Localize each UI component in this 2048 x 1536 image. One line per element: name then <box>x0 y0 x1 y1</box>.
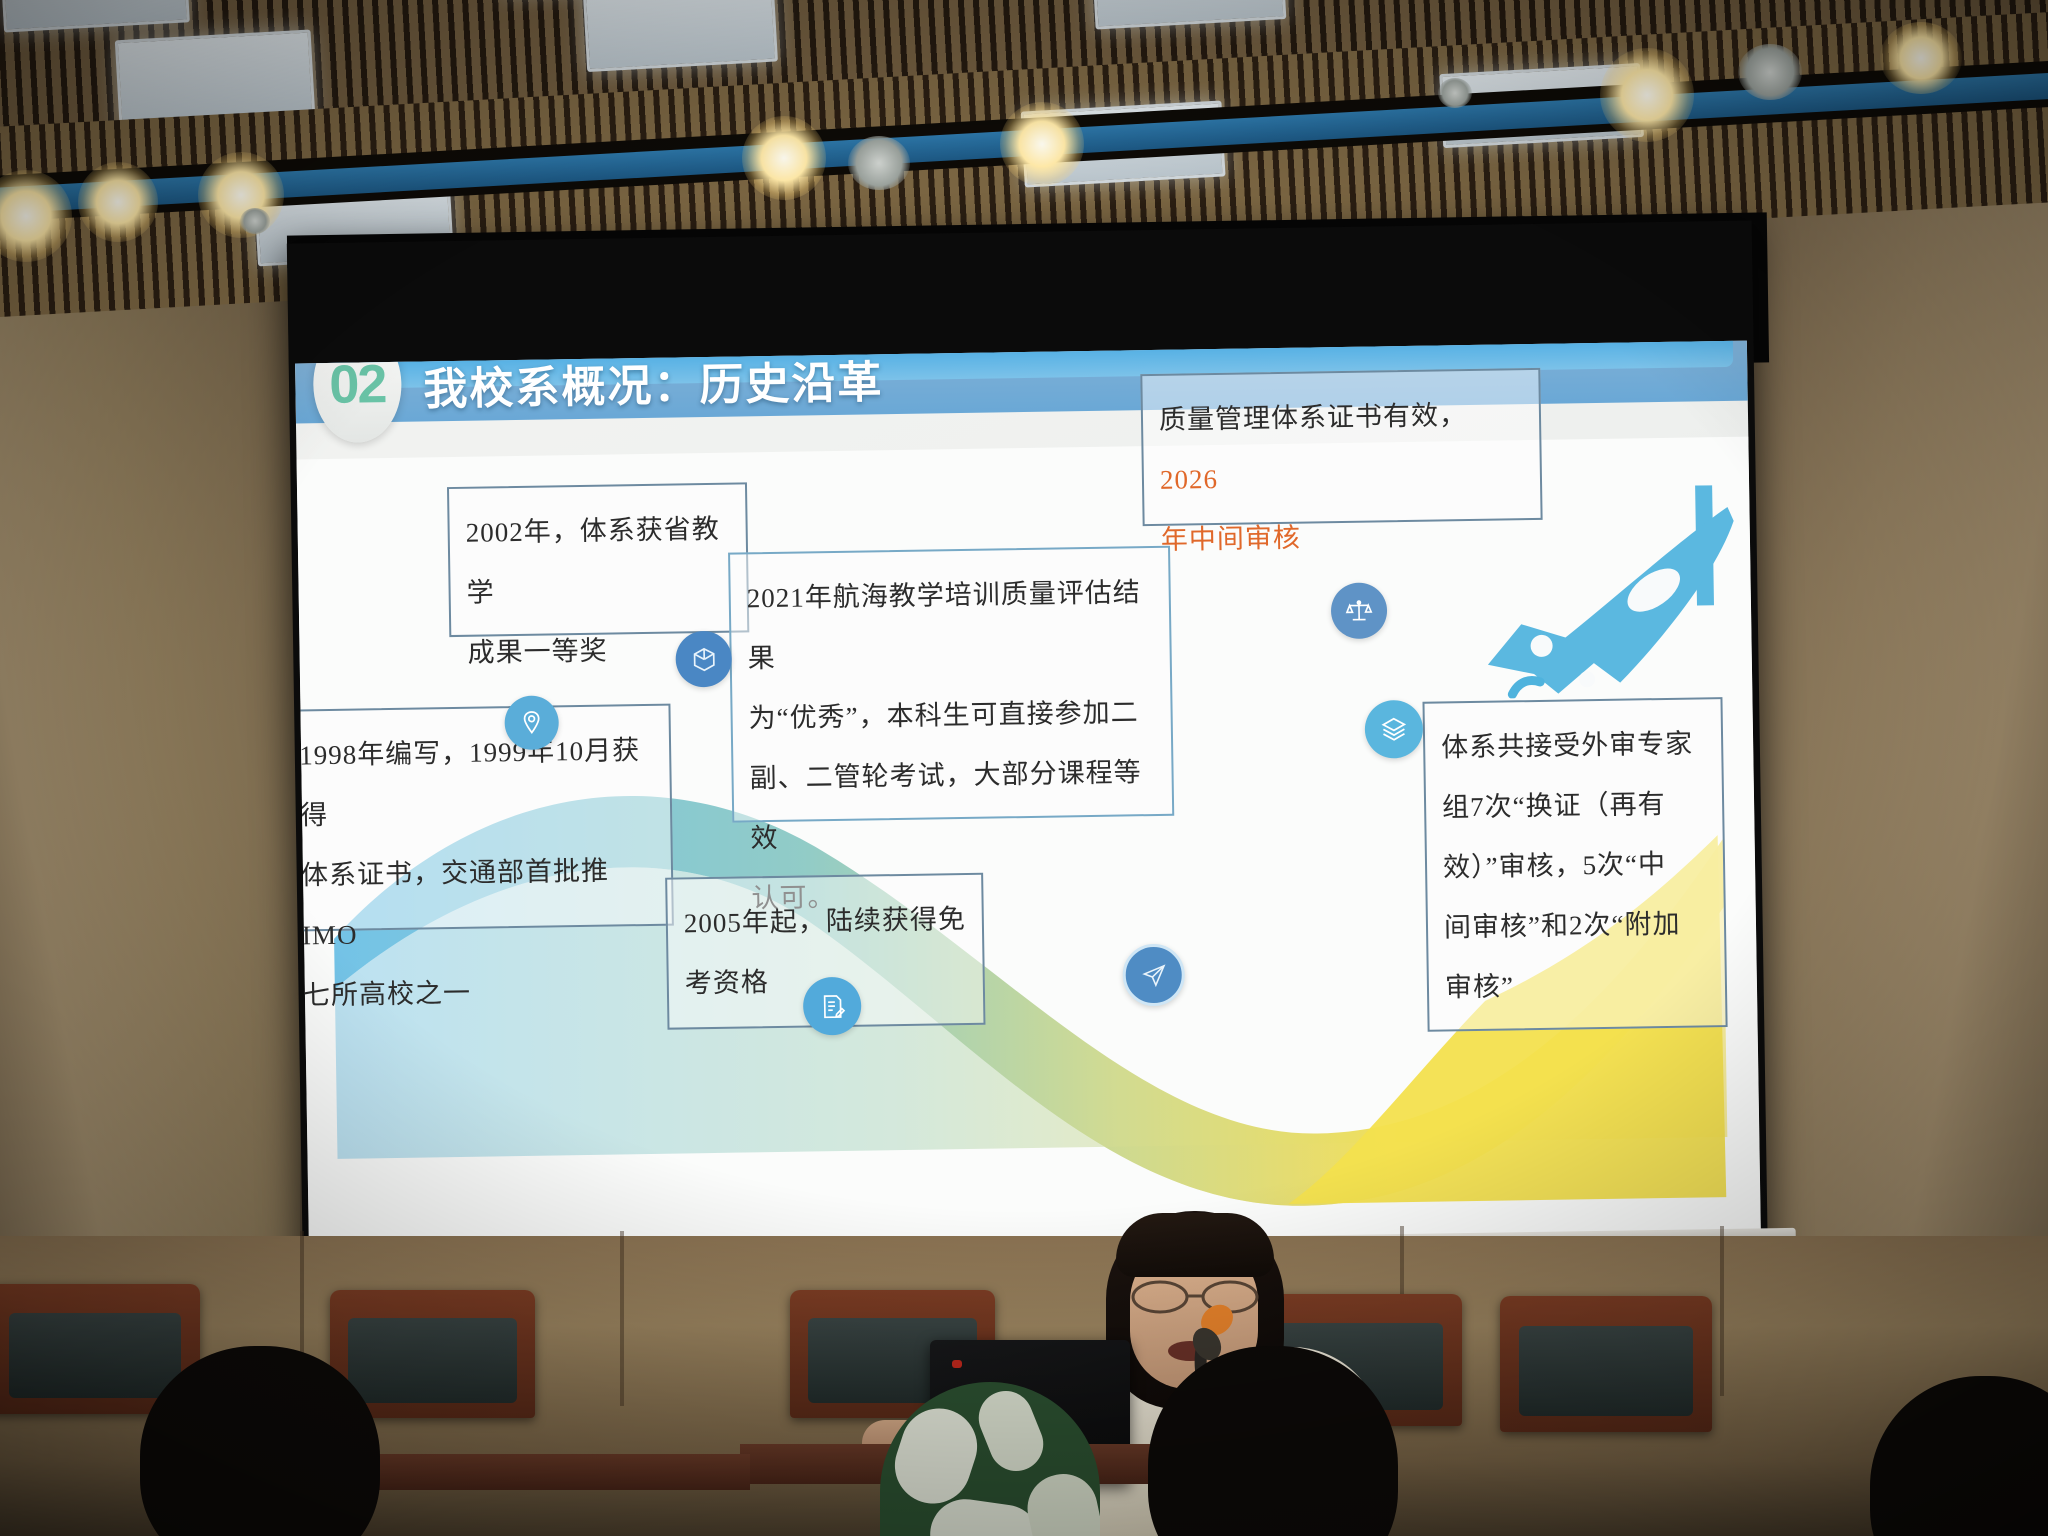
ceiling-light-9 <box>848 136 910 190</box>
box-1998-line-2: 体系证书，交通部首批推IMO <box>301 840 657 966</box>
box-2026-line-2: 年中间审核 <box>1160 504 1525 570</box>
box-1998-line-1: 1998年编写，1999年10月获得 <box>299 720 655 846</box>
box-2026-year: 2026 <box>1160 464 1218 495</box>
box-audit-line-2: 组7次“换证（再有 <box>1442 773 1707 837</box>
slide-badge-number: 02 <box>329 353 386 416</box>
ceiling-light-10 <box>1438 78 1472 108</box>
box-2021-line-3: 副、二管轮考试，大部分课程等效 <box>749 742 1157 868</box>
ceiling-light-2 <box>78 162 158 242</box>
ceiling-light-4 <box>742 116 826 200</box>
text-box-2026: 质量管理体系证书有效，2026 年中间审核 <box>1140 368 1542 526</box>
box-2026-line-1: 质量管理体系证书有效，2026 <box>1159 384 1525 510</box>
left-wall <box>0 170 300 1400</box>
ceiling-light-5 <box>1000 102 1084 186</box>
slide-body: 2002年，体系获省教学 成果一等奖 质量管理体系证书有效，2026 年中间审核… <box>297 437 1761 1264</box>
audience-chair[interactable] <box>1500 1296 1712 1432</box>
box-audit-line-5: 审核” <box>1444 953 1709 1017</box>
box-1998-line-3: 七所高校之一 <box>302 960 657 1026</box>
box-2005-line-1: 2005年起，陆续获得免 <box>683 889 966 953</box>
text-box-2002: 2002年，体系获省教学 成果一等奖 <box>447 482 749 637</box>
ceiling-light-11 <box>240 208 270 234</box>
wall-seam <box>1720 1226 1724 1396</box>
projection-screen: 02 我校系概况：历史沿革 <box>295 341 1761 1264</box>
laptop-power-led <box>952 1360 962 1368</box>
box-audit-line-1: 体系共接受外审专家 <box>1441 713 1706 777</box>
lecture-hall-scene: 02 我校系概况：历史沿革 <box>0 0 2048 1536</box>
ceiling-light-8 <box>1880 22 1962 94</box>
box-audit-line-3: 效）”审核，5次“中 <box>1443 833 1708 897</box>
text-box-2021: 2021年航海教学培训质量评估结果 为“优秀”，本科生可直接参加二 副、二管轮考… <box>728 546 1174 823</box>
box-2002-line-1: 2002年，体系获省教学 <box>465 499 731 623</box>
box-2021-line-1: 2021年航海教学培训质量评估结果 <box>746 562 1154 688</box>
ceiling-light-6 <box>1600 48 1694 142</box>
box-2026-text-normal: 质量管理体系证书有效， <box>1159 400 1467 435</box>
text-box-audit: 体系共接受外审专家 组7次“换证（再有 效）”审核，5次“中 间审核”和2次“附… <box>1422 697 1727 1032</box>
box-2021-line-2: 为“优秀”，本科生可直接参加二 <box>748 682 1155 748</box>
presenter-fringe <box>1116 1213 1274 1277</box>
wall-seam <box>620 1231 624 1406</box>
ceiling-light-7 <box>1738 44 1802 100</box>
presentation-slide: 02 我校系概况：历史沿革 <box>295 341 1761 1264</box>
text-box-1998: 1998年编写，1999年10月获得 体系证书，交通部首批推IMO 七所高校之一 <box>295 704 674 932</box>
box-audit-line-4: 间审核”和2次“附加 <box>1444 893 1709 957</box>
